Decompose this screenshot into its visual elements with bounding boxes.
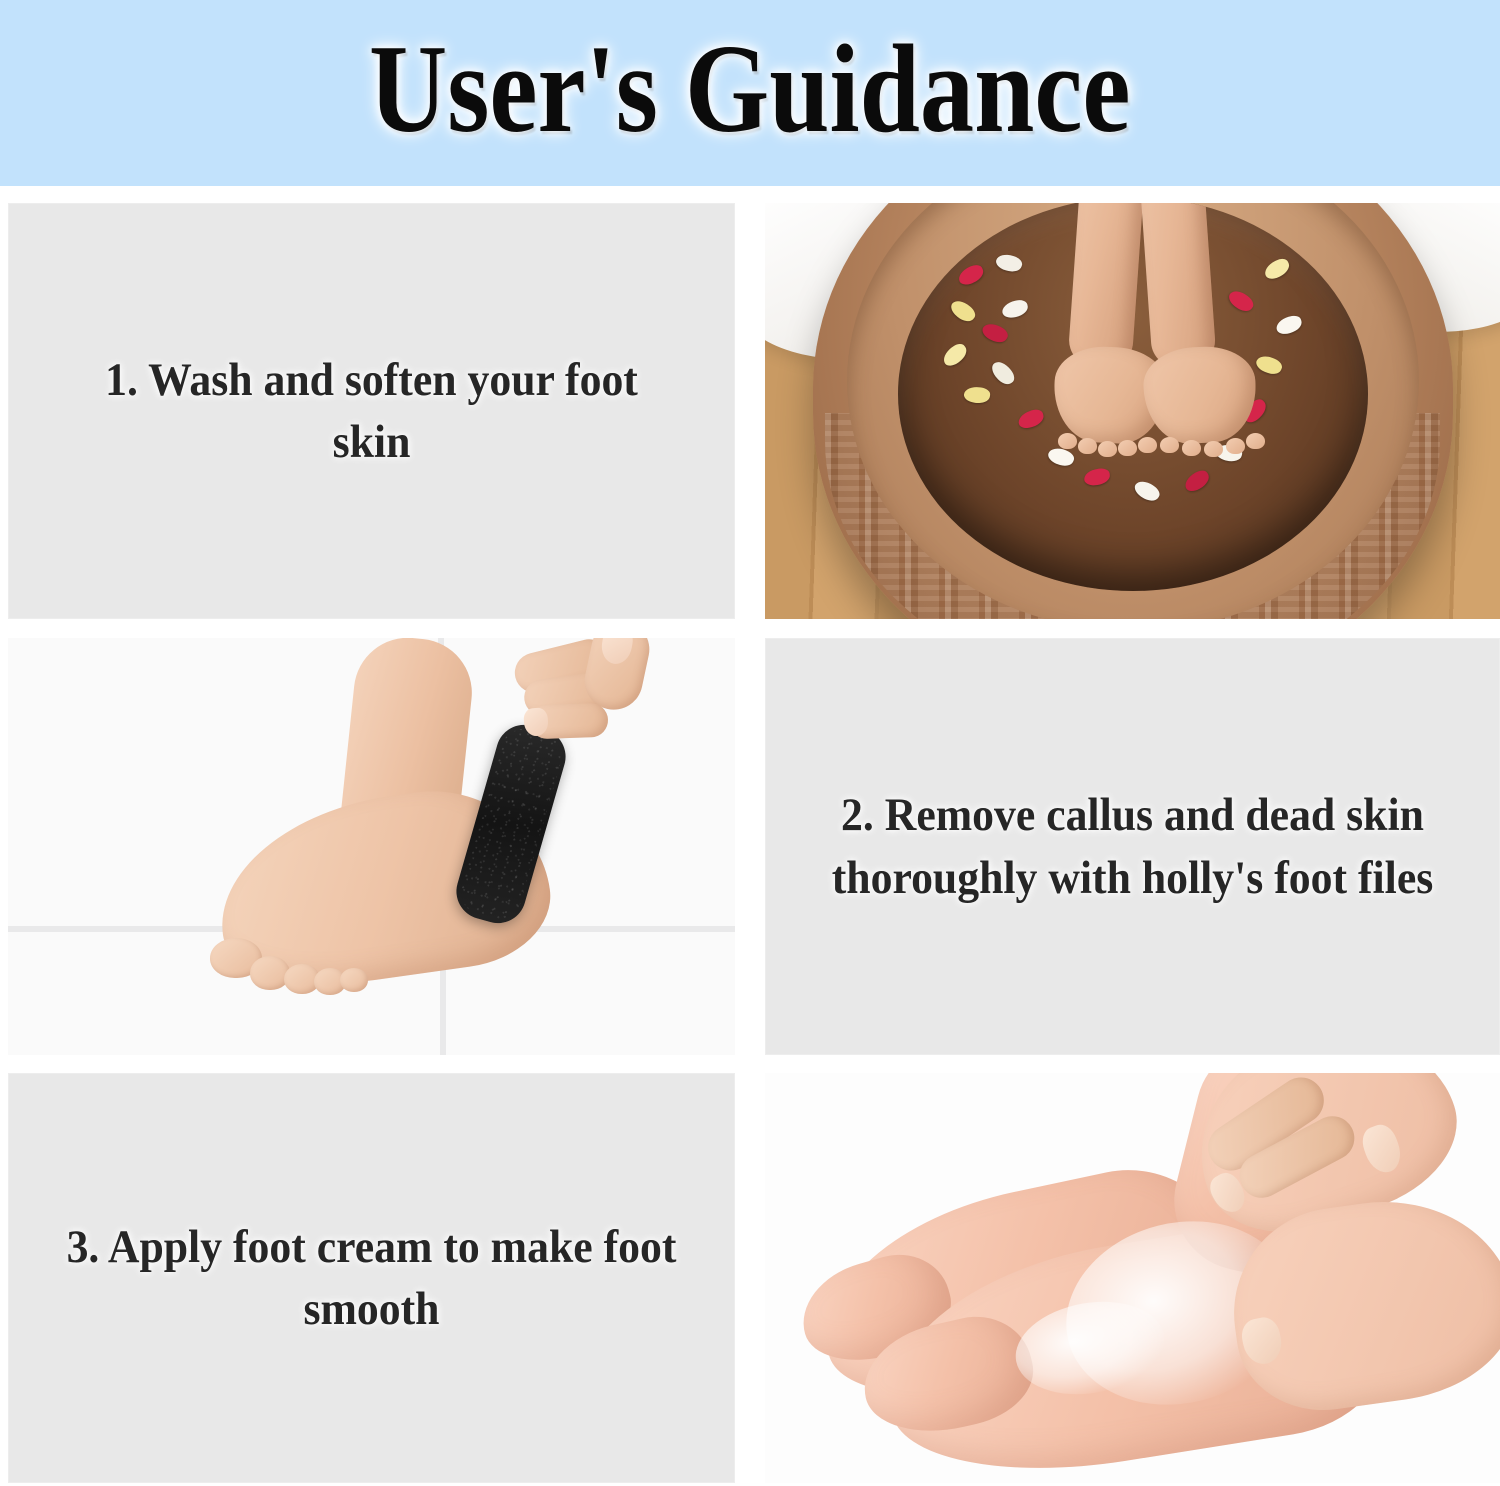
toe (1058, 433, 1077, 449)
page-title: User's Guidance (369, 27, 1131, 153)
toe (1204, 441, 1223, 457)
rose-petal (1016, 407, 1046, 430)
rose-petal (994, 251, 1024, 274)
rose-petal (979, 320, 1009, 346)
toe (340, 968, 368, 992)
step-2-label: 2. Remove callus and dead skin thoroughl… (792, 784, 1474, 908)
rose-petal (939, 341, 969, 369)
rose-petal (1274, 314, 1303, 337)
step-3-text-panel: 3. Apply foot cream to make foot smooth (8, 1073, 735, 1483)
step-1-label: 1. Wash and soften your foot skin (34, 349, 708, 473)
right-leg (1135, 203, 1217, 369)
step-2-photo (8, 638, 735, 1055)
toe (1118, 440, 1137, 456)
step-1-photo (765, 203, 1500, 619)
hand-holding-file (506, 638, 686, 760)
rose-petal (1000, 298, 1029, 319)
header-banner: User's Guidance (0, 0, 1500, 186)
step-2-text-panel: 2. Remove callus and dead skin thoroughl… (765, 638, 1500, 1055)
rose-petal (1261, 256, 1291, 282)
step-1-text-panel: 1. Wash and soften your foot skin (8, 203, 735, 619)
cream-scene (765, 1073, 1500, 1483)
toe (250, 956, 290, 990)
rose-petal (955, 262, 985, 287)
rose-petal (1181, 468, 1212, 495)
rose-petal (988, 358, 1017, 388)
guidance-grid: 1. Wash and soften your foot skin (8, 203, 1500, 1486)
rose-petal (1083, 467, 1111, 486)
toe (1078, 438, 1097, 454)
basin-scene (765, 203, 1500, 619)
toe (1098, 441, 1117, 457)
foot-file-scene (8, 638, 735, 1055)
toe (1160, 437, 1179, 453)
toe (1226, 438, 1245, 454)
rose-petal (1225, 287, 1255, 316)
rose-petal (1253, 352, 1283, 377)
rose-petal (947, 297, 977, 326)
rose-petal (963, 385, 991, 404)
toe (1182, 440, 1201, 456)
basin-water (898, 203, 1368, 591)
rose-petal (1131, 477, 1162, 505)
step-3-label: 3. Apply foot cream to make foot smooth (34, 1216, 708, 1340)
left-leg (1067, 203, 1148, 369)
toe (1246, 433, 1265, 449)
step-3-photo (765, 1073, 1500, 1483)
toe (1138, 437, 1157, 453)
right-foot (1141, 344, 1258, 446)
